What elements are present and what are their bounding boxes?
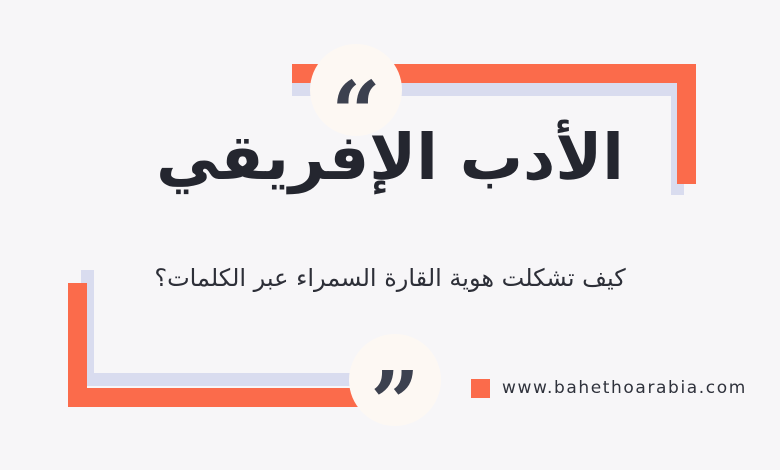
closing-quote-bubble: ”	[349, 334, 441, 426]
website-url[interactable]: www.bahethoarabia.com	[502, 378, 747, 398]
page-subtitle: كيف تشكلت هوية القارة السمراء عبر الكلما…	[0, 262, 780, 294]
opening-quote-bubble: “	[310, 44, 402, 136]
quote-open-icon: “	[331, 71, 380, 157]
square-marker-icon	[471, 379, 490, 398]
website-row[interactable]: www.bahethoarabia.com	[471, 375, 747, 401]
bottom-left-bracket-orange-horizontal	[68, 388, 388, 407]
bottom-left-bracket-lavender-horizontal	[81, 373, 389, 386]
quote-close-icon: ”	[370, 361, 419, 447]
quote-card: “ ” الأدب الإفريقي كيف تشكلت هوية القارة…	[0, 0, 780, 470]
page-title: الأدب الإفريقي	[0, 122, 780, 194]
top-right-bracket-orange-vertical	[677, 64, 696, 184]
